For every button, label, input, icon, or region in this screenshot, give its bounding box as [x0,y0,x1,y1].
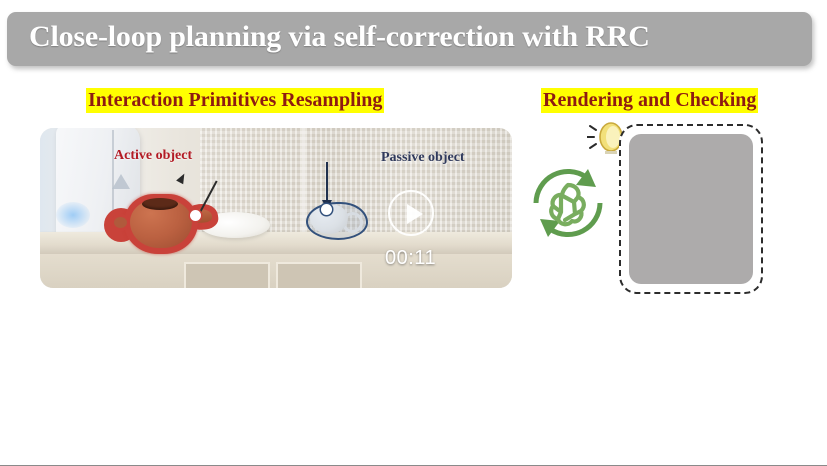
play-icon[interactable] [388,190,434,236]
section-heading-interaction-primitives-resampling: Interaction Primitives Resampling [86,88,384,113]
video-timestamp: 00:11 [385,247,436,270]
active-object-label: Active object [114,148,192,164]
video-frame-background: Active object Passive object 00:11 [40,128,512,288]
teapot-handle [114,217,127,228]
passive-object-label: Passive object [381,150,465,166]
lightbulb-icon [587,120,623,158]
rendering-and-checking-panel [525,118,815,303]
passive-object-contact-point [321,204,332,215]
openai-refresh-cycle-icon [530,165,606,241]
robot-indicator-glow [56,202,90,228]
counter-shelf-cubby [184,262,270,288]
render-output-frame[interactable] [619,124,763,294]
render-image-placeholder [629,134,753,284]
page-title: Close-loop planning via self-correction … [29,20,650,54]
teapot-rim [142,198,178,210]
passive-object-mask-outline [306,202,368,240]
counter-shelf-cubby [276,262,362,288]
play-triangle-icon [407,204,423,224]
active-object-teapot [104,186,234,258]
section-heading-rendering-and-checking: Rendering and Checking [541,88,758,113]
passive-object-cup [302,190,372,246]
active-object-contact-point [190,210,201,221]
passive-object-direction-arrow [326,162,328,202]
video-player[interactable]: Active object Passive object 00:11 [40,128,512,288]
slide-title-bar: Close-loop planning via self-correction … [7,12,812,66]
active-object-arrowhead-icon [176,172,188,185]
